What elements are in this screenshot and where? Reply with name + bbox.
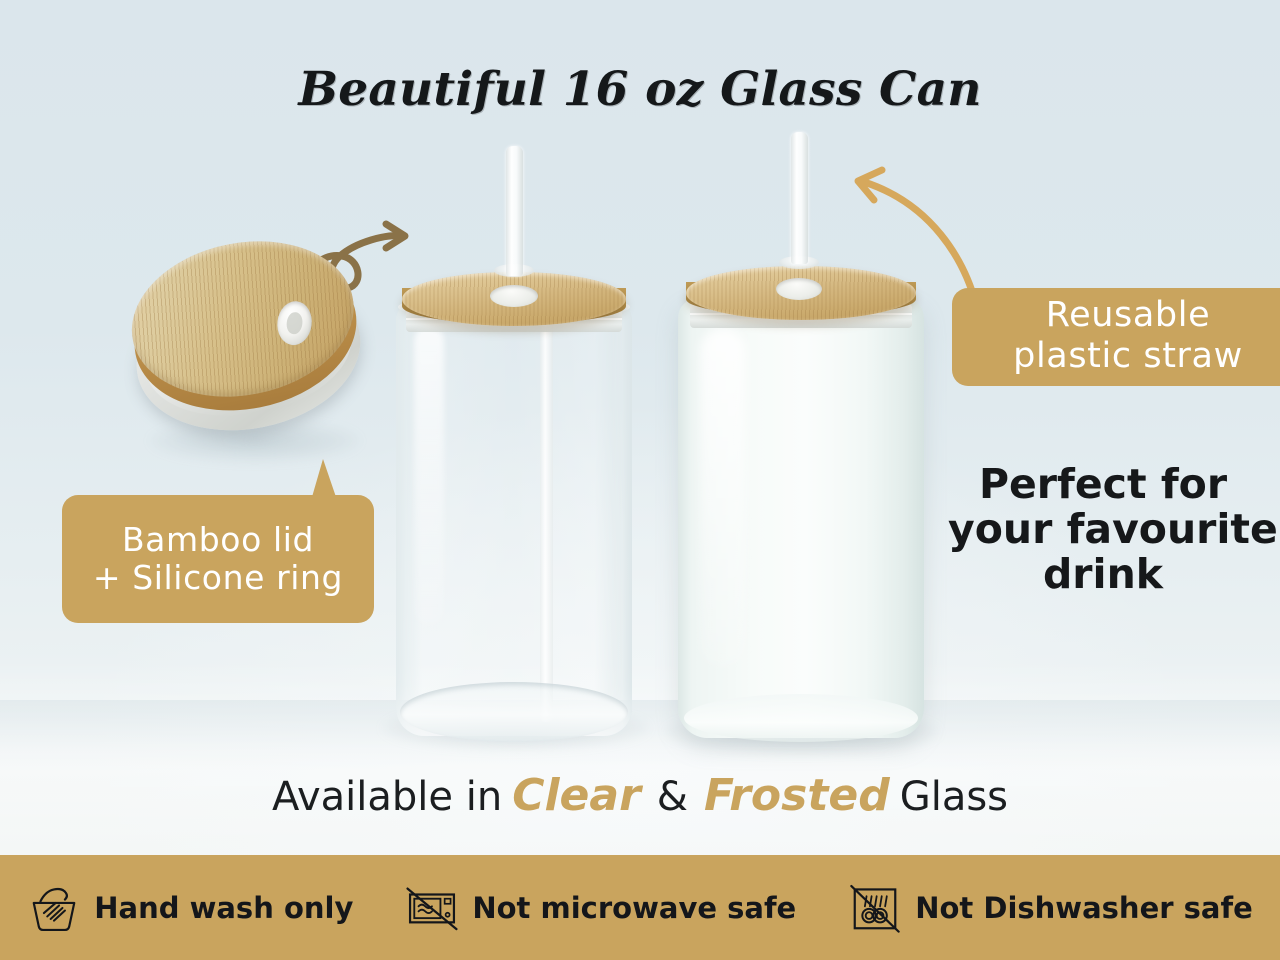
perfect-for-line3: drink bbox=[948, 552, 1258, 597]
frosted-can-base bbox=[684, 694, 918, 742]
frosted-can-product bbox=[678, 272, 924, 738]
perfect-for-line2: your favourite bbox=[948, 507, 1258, 552]
available-option-frosted: Frosted bbox=[698, 770, 896, 821]
callout-straw-line1: Reusable bbox=[1046, 295, 1210, 336]
care-label-hand-wash: Hand wash only bbox=[94, 891, 353, 925]
perfect-for-text: Perfect for your favourite drink bbox=[948, 462, 1258, 597]
callout-reusable-straw: Reusable plastic straw bbox=[952, 288, 1280, 386]
no-dishwasher-icon bbox=[848, 881, 902, 935]
available-conjunction: & bbox=[647, 774, 698, 820]
care-instructions-bar: Hand wash only Not microwave safe bbox=[0, 855, 1280, 960]
clear-can-lid-hole bbox=[490, 285, 538, 307]
callout-lid-line2: + Silicone ring bbox=[93, 559, 343, 597]
available-option-clear: Clear bbox=[506, 770, 647, 821]
care-label-no-dishwasher: Not Dishwasher safe bbox=[915, 891, 1253, 925]
care-label-no-microwave: Not microwave safe bbox=[472, 891, 796, 925]
care-item-hand-wash: Hand wash only bbox=[27, 881, 353, 935]
clear-can-straw bbox=[506, 146, 523, 276]
no-microwave-icon bbox=[405, 881, 459, 935]
page-title: Beautiful 16 oz Glass Can bbox=[0, 62, 1280, 117]
available-options-line: Available inClear&FrostedGlass bbox=[0, 770, 1280, 821]
care-item-no-microwave: Not microwave safe bbox=[405, 881, 796, 935]
backdrop-sweep bbox=[0, 660, 1280, 860]
infographic-canvas: Beautiful 16 oz Glass Can bbox=[0, 0, 1280, 960]
available-prefix: Available in bbox=[268, 774, 506, 820]
clear-can-body bbox=[396, 302, 632, 736]
frosted-can-lid-hole bbox=[776, 278, 822, 300]
callout-bamboo-lid: Bamboo lid + Silicone ring bbox=[62, 495, 374, 623]
bamboo-lid-product bbox=[110, 217, 392, 475]
hand-wash-icon bbox=[27, 881, 81, 935]
frosted-can-straw bbox=[791, 132, 808, 264]
callout-lid-pointer bbox=[312, 459, 336, 497]
clear-can-product bbox=[396, 276, 632, 736]
perfect-for-line1: Perfect for bbox=[948, 462, 1258, 507]
callout-lid-line1: Bamboo lid bbox=[122, 521, 314, 559]
clear-can-base bbox=[400, 682, 628, 742]
available-suffix: Glass bbox=[896, 774, 1012, 820]
callout-straw-line2: plastic straw bbox=[1013, 336, 1243, 377]
frosted-can-body bbox=[678, 298, 924, 738]
care-item-no-dishwasher: Not Dishwasher safe bbox=[848, 881, 1253, 935]
